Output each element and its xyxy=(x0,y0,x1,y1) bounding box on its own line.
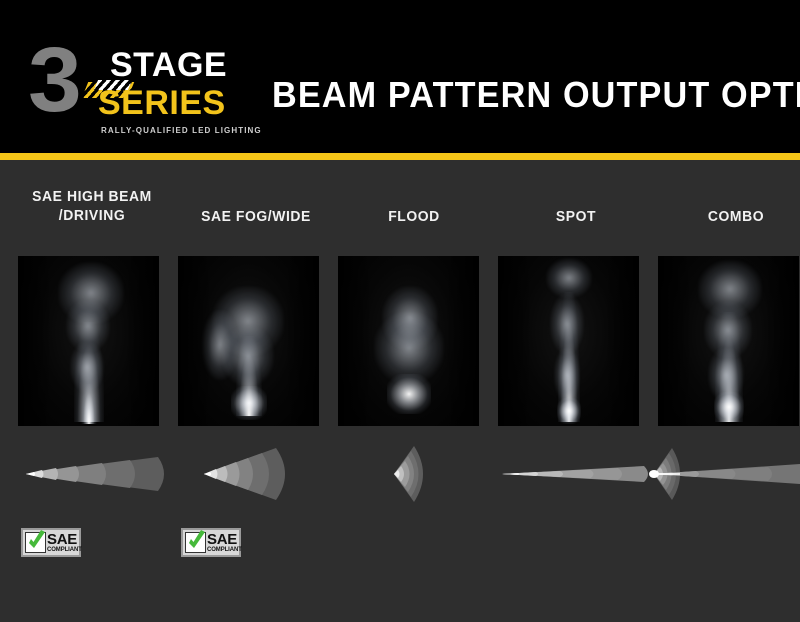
beam-diagram-sae-fog-wide xyxy=(178,442,338,506)
page-title: BEAM PATTERN OUTPUT OPTIONS xyxy=(272,76,800,114)
beam-pattern-board: SAE HIGH BEAM /DRIVING xyxy=(0,160,800,622)
logo-word-stage: STAGE xyxy=(110,48,227,82)
column-label-line1: SAE FOG/WIDE xyxy=(201,209,311,225)
badge-sub-text: COMPLIANT xyxy=(207,547,242,553)
check-icon xyxy=(25,532,46,553)
column-label-sae-fog-wide: SAE FOG/WIDE xyxy=(179,208,333,227)
header-divider xyxy=(0,153,800,160)
column-label-line1: FLOOD xyxy=(388,209,440,225)
sae-compliant-badge-2: SAE COMPLIANT xyxy=(181,528,241,557)
column-label-flood: FLOOD xyxy=(337,208,491,227)
beam-diagram-flood xyxy=(338,442,498,506)
beam-diagram-sae-high-beam-driving xyxy=(18,442,178,506)
logo-tagline: RALLY-QUALIFIED LED LIGHTING xyxy=(101,126,262,135)
logo-word-series: SERIES xyxy=(98,86,226,120)
column-label-line2: /DRIVING xyxy=(59,208,125,224)
beam-photo-spot xyxy=(498,256,639,426)
column-label-spot: SPOT xyxy=(499,208,653,227)
badge-main-text: SAE xyxy=(47,532,82,547)
badge-sub-text: COMPLIANT xyxy=(47,547,82,553)
sae-compliant-badge-1: SAE COMPLIANT xyxy=(21,528,81,557)
beam-photo-combo xyxy=(658,256,799,426)
column-label-line1: COMBO xyxy=(708,209,764,225)
beam-diagram-combo xyxy=(618,442,778,506)
beam-photo-sae-high-beam-driving xyxy=(18,256,159,426)
stage-series-logo: 3 STAGE SERIES RALLY-QUALIFIED LED LIGHT… xyxy=(28,34,238,130)
beam-photo-flood xyxy=(338,256,479,426)
column-label-sae-high-beam-driving: SAE HIGH BEAM /DRIVING xyxy=(15,188,169,226)
logo-numeral: 3 xyxy=(28,34,78,126)
column-label-line1: SPOT xyxy=(556,209,596,225)
badge-main-text: SAE xyxy=(207,532,242,547)
column-label-line1: SAE HIGH BEAM xyxy=(32,189,152,205)
beam-photo-sae-fog-wide xyxy=(178,256,319,426)
column-label-combo: COMBO xyxy=(659,208,800,227)
check-icon xyxy=(185,532,206,553)
header-bar: 3 STAGE SERIES RALLY-QUALIFIED LED LIGHT… xyxy=(0,0,800,153)
